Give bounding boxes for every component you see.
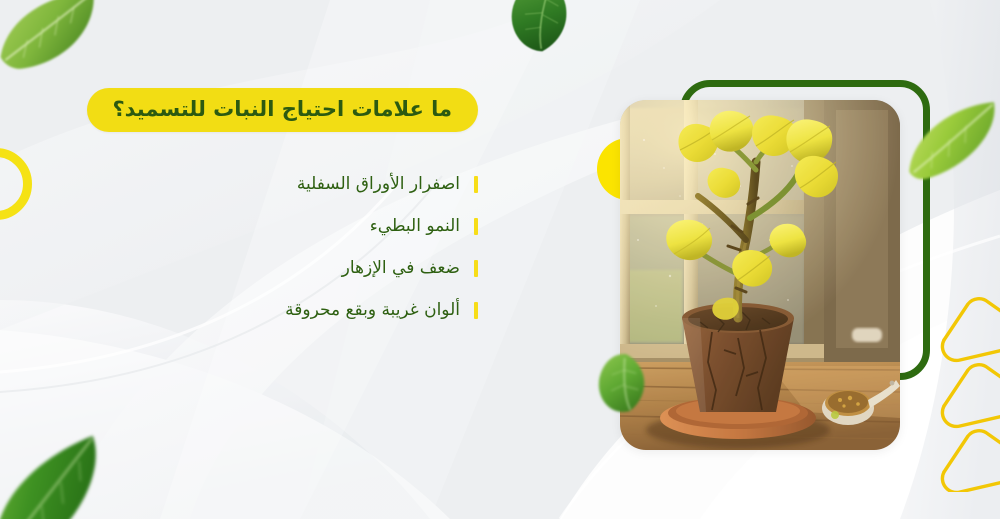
plant-photo [620,100,900,450]
list-item-label: اصفرار الأوراق السفلية [297,173,460,195]
bullet-marker-icon [474,176,478,193]
list-item-label: ضعف في الإزهار [342,257,460,279]
list-item: النمو البطيء [58,205,478,247]
bullet-marker-icon [474,302,478,319]
bullet-marker-icon [474,260,478,277]
photo-block [620,80,930,450]
page-title: ما علامات احتياج النبات للتسميد؟ [87,88,479,132]
list-item: اصفرار الأوراق السفلية [58,163,478,205]
list-item-label: ألوان غريبة وبقع محروقة [285,299,460,321]
symptoms-list: اصفرار الأوراق السفلية النمو البطيء ضعف … [58,163,478,331]
bullet-marker-icon [474,218,478,235]
plant-photo-illustration [620,100,900,450]
chevron-outline-pattern-icon [926,282,1000,492]
list-item-label: النمو البطيء [370,215,460,237]
chevron-svg [926,282,1000,492]
slide-canvas: ما علامات احتياج النبات للتسميد؟ اصفرار … [0,0,1000,519]
leaf-svg [592,349,654,419]
list-item: ألوان غريبة وبقع محروقة [58,289,478,331]
list-item: ضعف في الإزهار [58,247,478,289]
leaf-icon [592,349,654,419]
